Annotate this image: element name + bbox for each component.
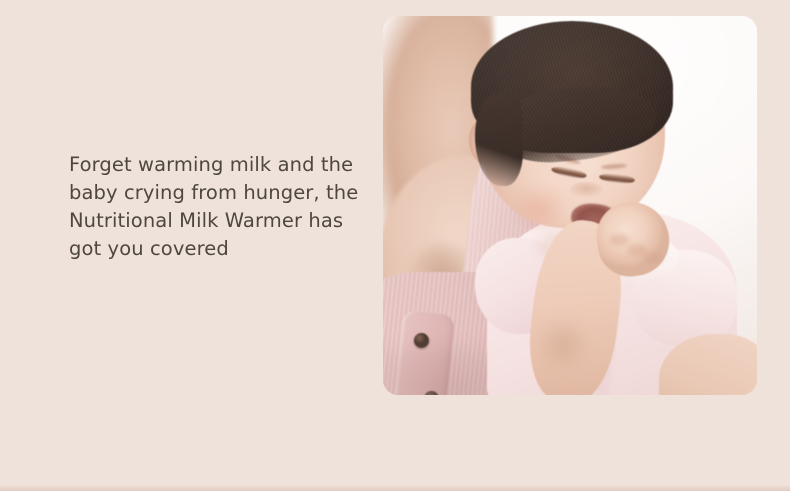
- lifestyle-photo: [383, 16, 757, 395]
- baby-side-hair: [475, 94, 523, 186]
- baby-knuckle-1: [609, 234, 629, 246]
- headline-line-3: Nutritional Milk Warmer has: [69, 207, 369, 235]
- baby-elbow-shadow: [535, 316, 591, 372]
- headline-line-4: got you covered: [69, 235, 369, 263]
- baby-knuckle-3: [643, 252, 663, 264]
- bottom-edge-strip: [0, 486, 790, 491]
- baby-cheek-flush: [511, 184, 569, 234]
- headline-copy-block: Forget warming milk and the baby crying …: [69, 151, 369, 263]
- headline-line-2: baby crying from hunger, the: [69, 179, 369, 207]
- baby-nose-wrinkle: [569, 182, 603, 198]
- promo-banner: Forget warming milk and the baby crying …: [0, 0, 790, 491]
- headline-line-1: Forget warming milk and the: [69, 151, 369, 179]
